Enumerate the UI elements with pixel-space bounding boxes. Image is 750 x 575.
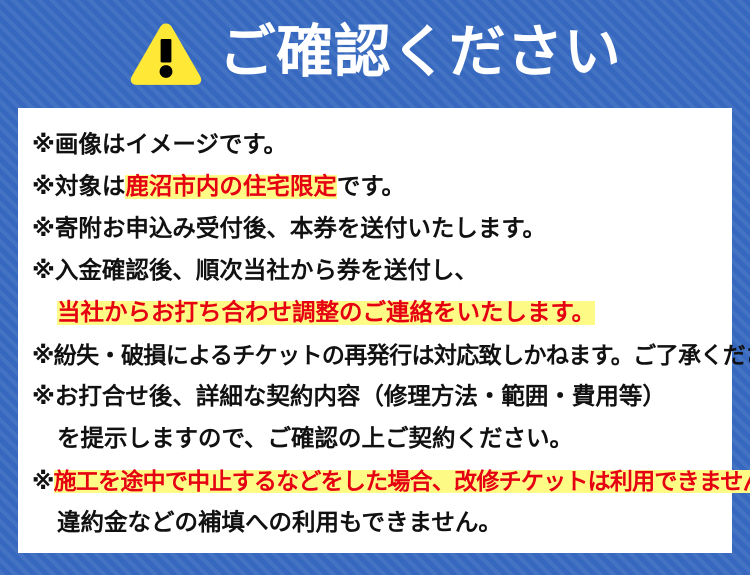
notice-line-3: ※ 寄附お申込み受付後、本券を送付いたします。 [32,208,722,250]
notice-line-5: 当社からお打ち合わせ調整のご連絡をいたします。 [32,292,722,334]
notice-text: を提示しますので、ご確認の上ご契約ください。 [57,427,573,451]
bullet-mark: ※ [32,385,55,409]
notice-text: 違約金などの補填への利用もできません。 [57,511,502,535]
notice-text-emphasis: 鹿沼市内の住宅限定 [125,175,337,199]
bullet-mark: ※ [32,175,55,199]
banner-header: ご確認ください [0,0,750,108]
notice-text: 入金確認後、順次当社から券を送付し、 [55,259,478,283]
notice-line-9: ※ 施工を途中で中止するなどをした場合、改修チケットは利用できません。 [32,460,722,502]
notice-card: ※ 画像はイメージです。 ※ 対象は 鹿沼市内の住宅限定 です。 ※ 寄附お申込… [18,108,732,553]
notice-line-2: ※ 対象は 鹿沼市内の住宅限定 です。 [32,166,722,208]
notice-text: 対象は [55,175,126,199]
notice-line-10: 違約金などの補填への利用もできません。 [32,502,722,544]
bullet-mark: ※ [32,259,55,283]
bullet-mark: ※ [32,133,55,157]
notice-text: 寄附お申込み受付後、本券を送付いたします。 [55,217,546,241]
page-title: ご確認ください [219,24,622,85]
notice-text: です。 [337,175,405,199]
notice-line-7: ※ お打合せ後、詳細な契約内容（修理方法・範囲・費用等） [32,376,722,418]
notice-line-6: ※ 紛失・破損によるチケットの再発行は対応致しかねます。ご了承ください。 [32,334,722,376]
notice-line-1: ※ 画像はイメージです。 [32,124,722,166]
bullet-mark: ※ [32,217,55,241]
notice-text-emphasis: 施工を途中で中止するなどをした場合、改修チケットは利用できません。 [54,470,750,493]
notice-banner: ご確認ください ※ 画像はイメージです。 ※ 対象は 鹿沼市内の住宅限定 です。… [0,0,750,575]
notice-text: 紛失・破損によるチケットの再発行は対応致しかねます。ご了承ください。 [54,344,750,367]
bullet-mark: ※ [32,470,54,493]
bullet-mark: ※ [32,344,54,367]
notice-text: 画像はイメージです。 [55,133,287,157]
notice-text: お打合せ後、詳細な契約内容（修理方法・範囲・費用等） [55,385,666,409]
notice-text-emphasis: 当社からお打ち合わせ調整のご連絡をいたします。 [57,301,595,325]
notice-line-8: を提示しますので、ご確認の上ご契約ください。 [32,418,722,460]
notice-line-4: ※ 入金確認後、順次当社から券を送付し、 [32,250,722,292]
warning-triangle-icon [129,21,203,87]
